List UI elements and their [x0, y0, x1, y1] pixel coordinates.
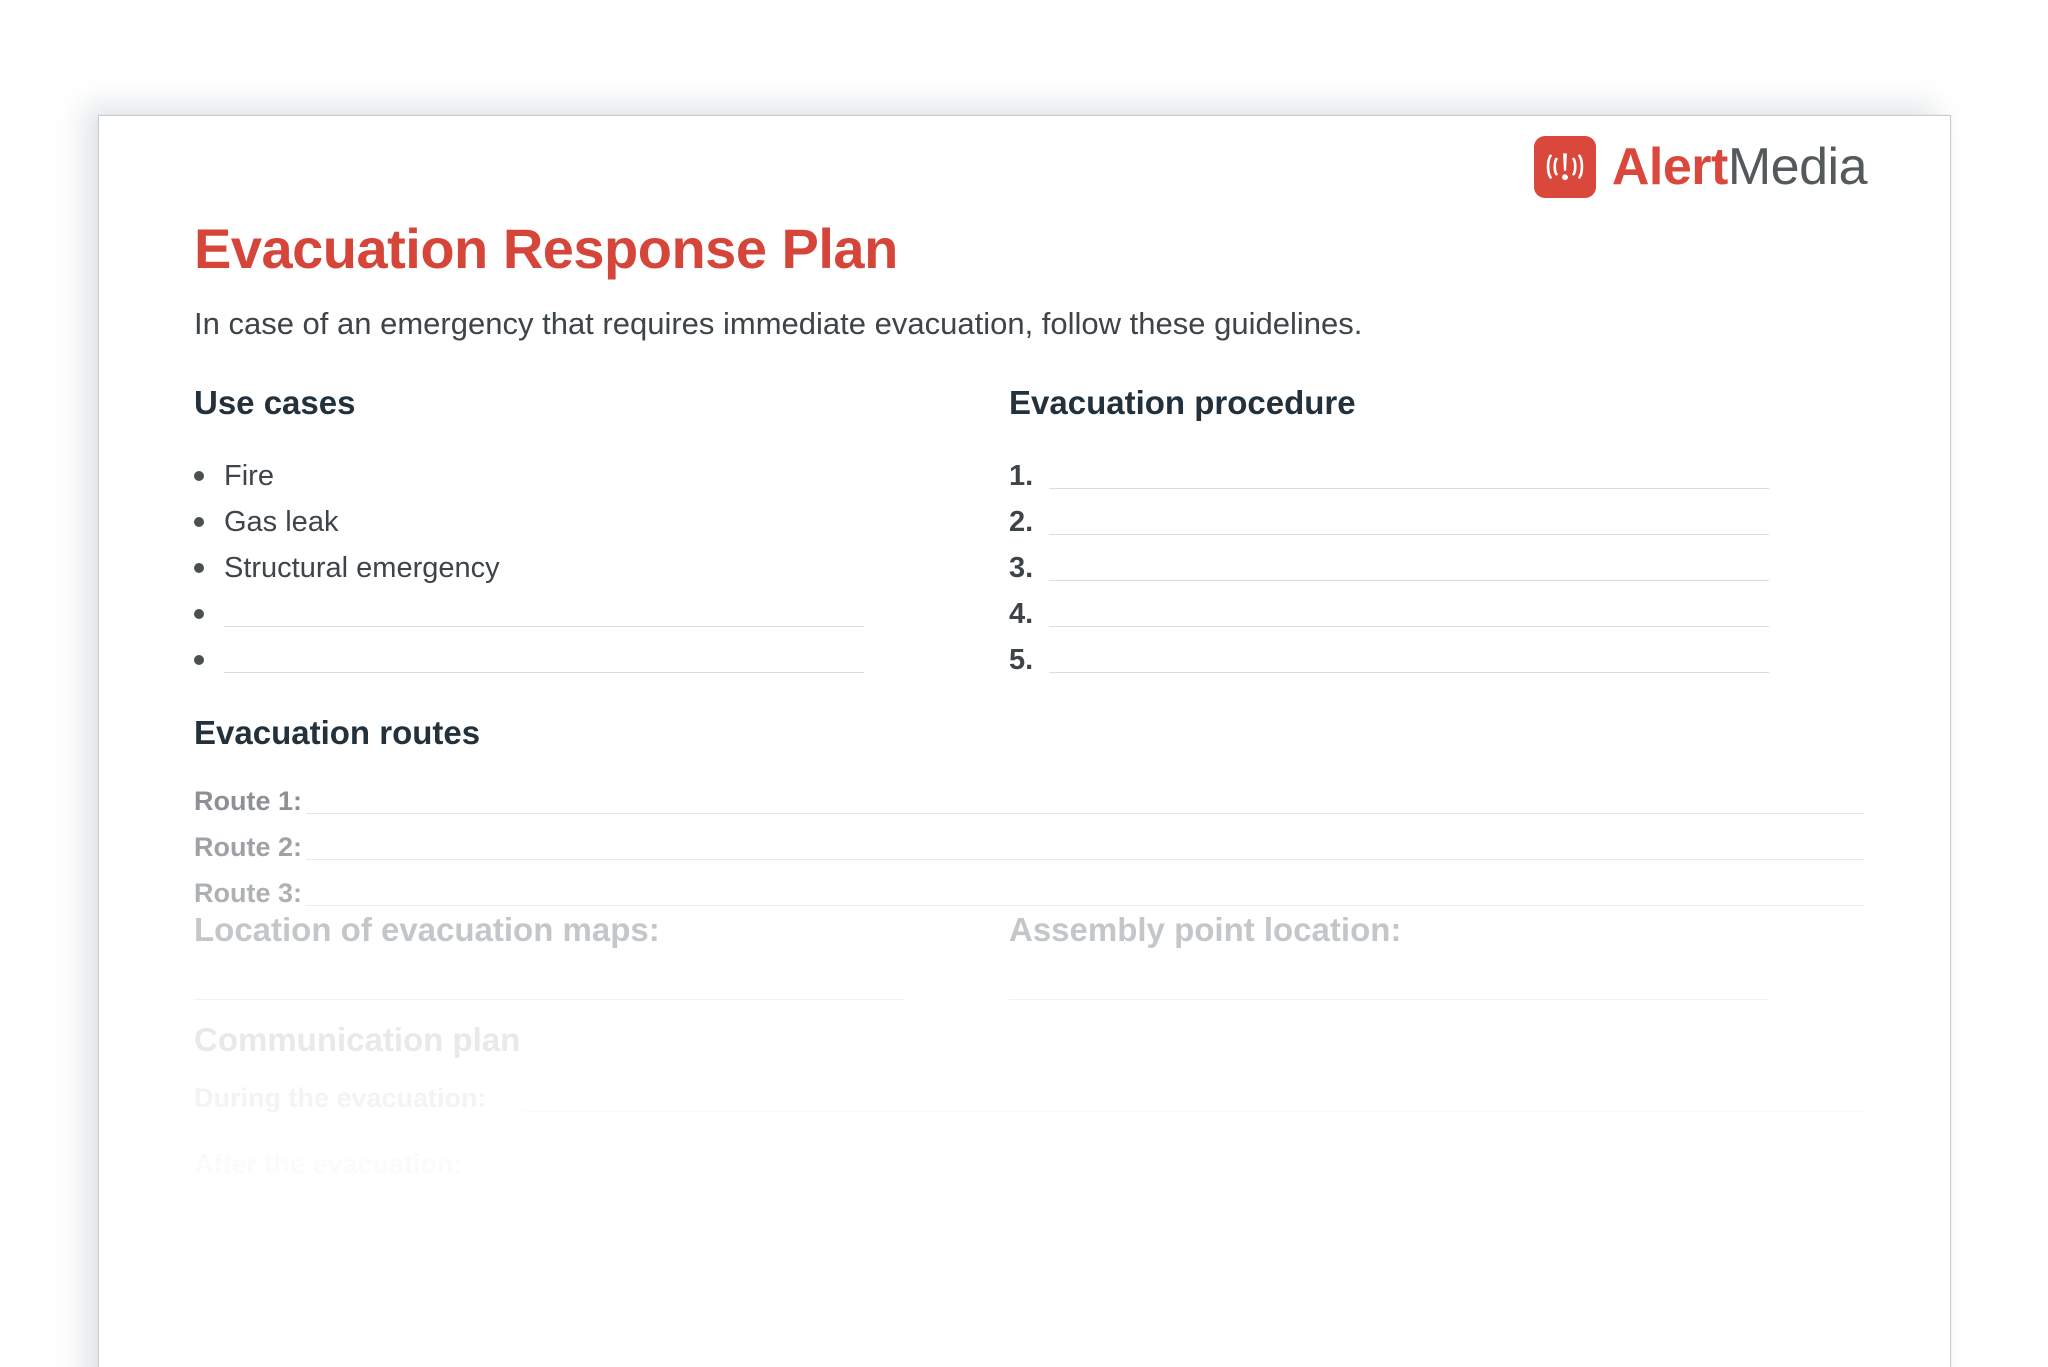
- section-heading-communication-plan: Communication plan: [194, 1021, 1864, 1059]
- list-item: Fire: [194, 456, 904, 502]
- assembly-point-location-group: Assembly point location:: [1009, 911, 1769, 1000]
- list-item[interactable]: During the evacuation:: [194, 1077, 1864, 1125]
- bullet-dot-icon: [194, 655, 204, 665]
- route-blank-field[interactable]: [306, 813, 1864, 814]
- list-item[interactable]: Route 2:: [194, 827, 1864, 873]
- wordmark-media: Media: [1728, 138, 1867, 196]
- section-heading-evacuation-routes: Evacuation routes: [194, 714, 480, 752]
- bullet-dot-icon: [194, 471, 204, 481]
- list-item[interactable]: 5.: [1009, 640, 1769, 686]
- section-heading-use-cases: Use cases: [194, 384, 355, 422]
- document-page: AlertMedia Evacuation Response Plan In c…: [98, 115, 1951, 1367]
- step-blank-field[interactable]: [1049, 488, 1769, 489]
- list-item[interactable]: 3.: [1009, 548, 1769, 594]
- page-subtitle: In case of an emergency that requires im…: [194, 306, 1362, 342]
- list-item[interactable]: Route 1:: [194, 781, 1864, 827]
- list-item[interactable]: After the evacuation:: [194, 1143, 1864, 1191]
- step-number: 2.: [1009, 502, 1049, 542]
- use-case-blank-field[interactable]: [224, 672, 864, 673]
- step-number: 5.: [1009, 640, 1049, 680]
- list-item[interactable]: 4.: [1009, 594, 1769, 640]
- evacuation-maps-location-group: Location of evacuation maps:: [194, 911, 904, 1000]
- step-number: 3.: [1009, 548, 1049, 588]
- assembly-point-location-label: Assembly point location:: [1009, 911, 1769, 949]
- list-item: Structural emergency: [194, 548, 904, 594]
- page-title: Evacuation Response Plan: [194, 216, 898, 281]
- use-case-label: Structural emergency: [224, 548, 500, 588]
- alertmedia-logo: AlertMedia: [1534, 136, 1867, 198]
- route-label: Route 2:: [194, 827, 306, 867]
- step-blank-field[interactable]: [1049, 626, 1769, 627]
- step-number: 4.: [1009, 594, 1049, 634]
- use-case-blank-field[interactable]: [224, 626, 864, 627]
- bullet-dot-icon: [194, 517, 204, 527]
- section-heading-evacuation-procedure: Evacuation procedure: [1009, 384, 1356, 422]
- assembly-point-location-field[interactable]: [1009, 999, 1769, 1000]
- alertmedia-wordmark: AlertMedia: [1612, 141, 1867, 193]
- use-case-label: Fire: [224, 456, 274, 496]
- communication-plan-section: Communication plan During the evacuation…: [194, 1021, 1864, 1191]
- route-blank-field[interactable]: [306, 905, 1864, 906]
- after-evacuation-label: After the evacuation:: [194, 1143, 524, 1185]
- locations-section: Location of evacuation maps: Assembly po…: [194, 911, 1864, 1000]
- bullet-dot-icon: [194, 563, 204, 573]
- after-evacuation-field[interactable]: [524, 1177, 1864, 1178]
- use-case-label: Gas leak: [224, 502, 338, 542]
- screenshot-root: AlertMedia Evacuation Response Plan In c…: [0, 0, 2048, 1367]
- list-item[interactable]: [194, 594, 904, 640]
- bullet-dot-icon: [194, 609, 204, 619]
- step-blank-field[interactable]: [1049, 534, 1769, 535]
- evacuation-routes-list: Route 1: Route 2: Route 3:: [194, 781, 1864, 919]
- list-item[interactable]: 1.: [1009, 456, 1769, 502]
- during-evacuation-field[interactable]: [524, 1111, 1864, 1112]
- step-blank-field[interactable]: [1049, 580, 1769, 581]
- route-label: Route 1:: [194, 781, 306, 821]
- evacuation-maps-location-field[interactable]: [194, 999, 904, 1000]
- step-blank-field[interactable]: [1049, 672, 1769, 673]
- route-label: Route 3:: [194, 873, 306, 913]
- step-number: 1.: [1009, 456, 1049, 496]
- list-item: Gas leak: [194, 502, 904, 548]
- during-evacuation-label: During the evacuation:: [194, 1077, 524, 1119]
- use-cases-list: Fire Gas leak Structural emergency: [194, 456, 904, 686]
- evacuation-maps-location-label: Location of evacuation maps:: [194, 911, 904, 949]
- evacuation-procedure-list: 1. 2. 3. 4. 5.: [1009, 456, 1769, 686]
- wordmark-alert: Alert: [1612, 138, 1728, 196]
- list-item[interactable]: 2.: [1009, 502, 1769, 548]
- route-blank-field[interactable]: [306, 859, 1864, 860]
- alert-exclamation-icon: [1534, 136, 1596, 198]
- list-item[interactable]: [194, 640, 904, 686]
